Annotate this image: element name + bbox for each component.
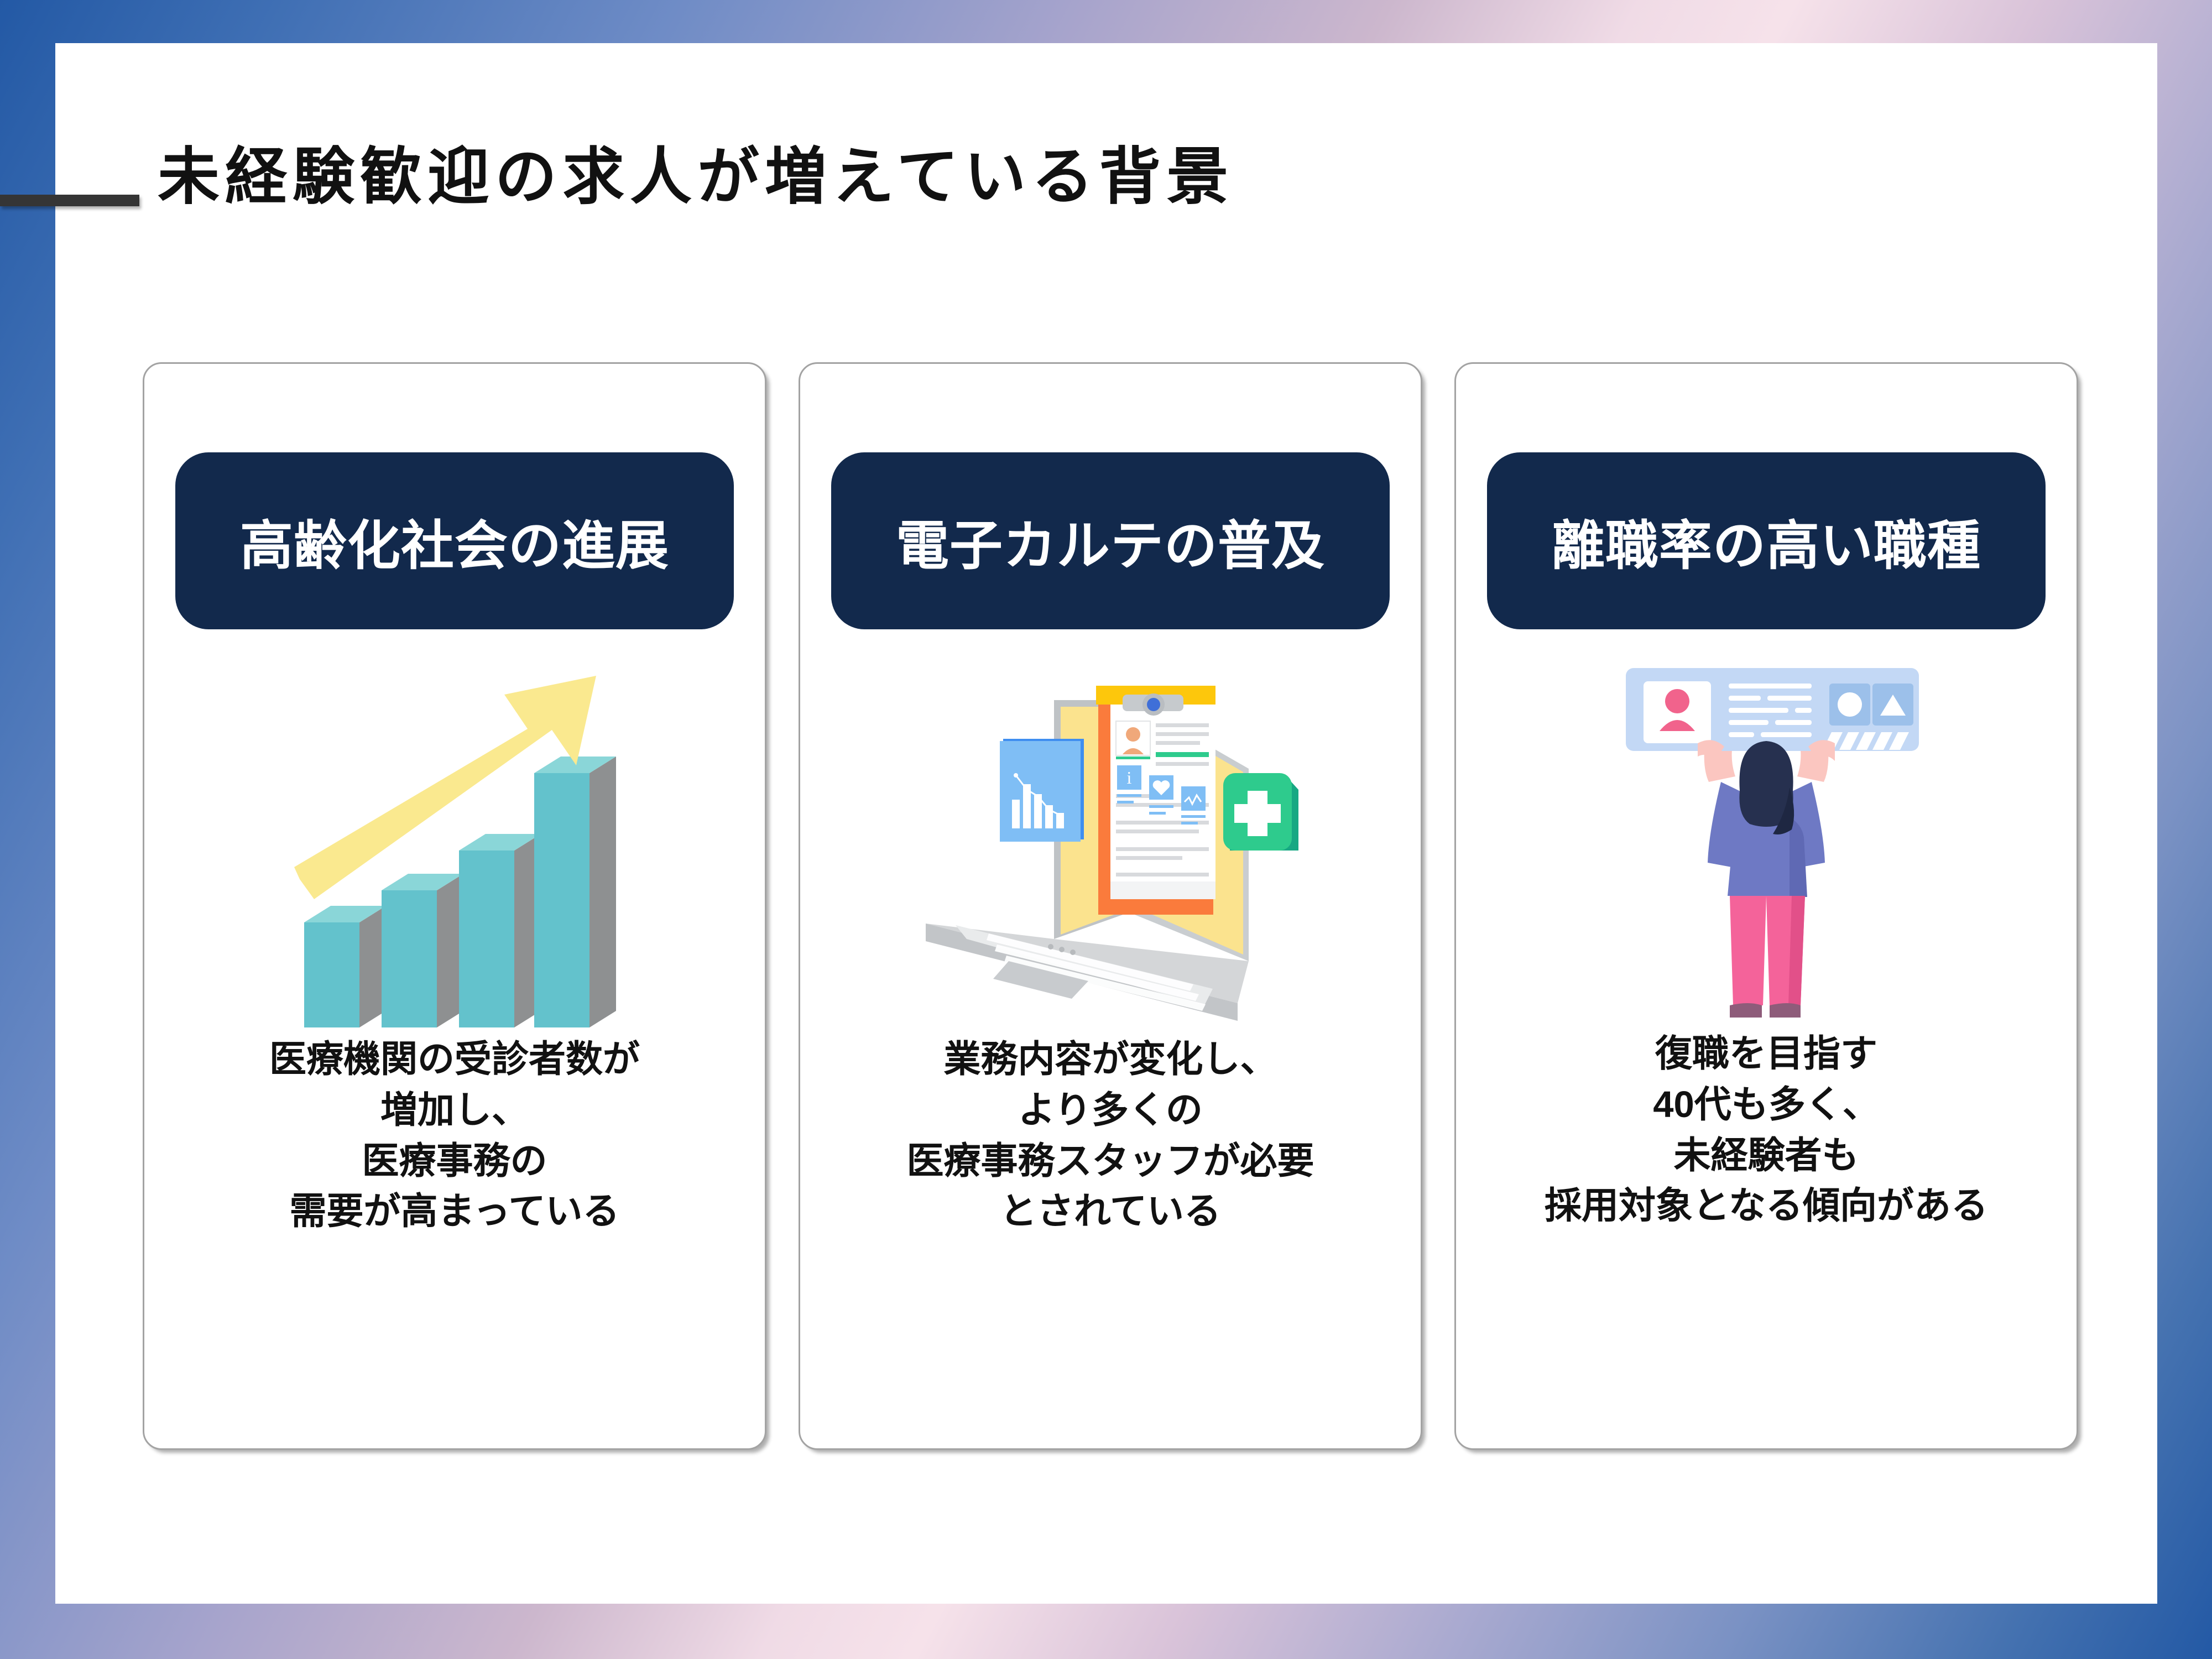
title-accent-rule [0, 195, 139, 206]
card-badge-label-3: 離職率の高い職種 [1552, 503, 1981, 580]
card-body-2-line-2: より多くの [817, 1085, 1404, 1136]
card-body-2-line-3: 医療事務スタッフが必要 [817, 1136, 1404, 1187]
card-body-2: 業務内容が変化し、 より多くの 医療事務スタッフが必要 とされている [817, 1034, 1404, 1237]
card-badge-label-1: 高齢化社会の進展 [240, 503, 669, 580]
card-body-3-line-1: 復職を目指す [1473, 1029, 2059, 1079]
laptop-medical-record-icon: i [906, 651, 1315, 1039]
card-body-1-line-2: 増加し、 [161, 1085, 748, 1136]
card-badge-1: 高齢化社会の進展 [175, 452, 734, 629]
card-high-turnover-job[interactable]: 離職率の高い職種 [1454, 362, 2078, 1450]
growth-bar-chart-arrow-icon [278, 662, 632, 1027]
card-body-1-line-4: 需要が高まっている [161, 1186, 748, 1237]
card-body-3: 復職を目指す 40代も多く、 未経験者も 採用対象となる傾向がある [1473, 1029, 2059, 1232]
card-aging-society[interactable]: 高齢化社会の進展 [143, 362, 766, 1450]
illustration-slot-2: i [831, 651, 1390, 1039]
slide-root: 未経験歓迎の求人が増えている背景 高齢化社会の進展 [0, 0, 2212, 1659]
card-body-3-line-4: 採用対象となる傾向がある [1473, 1181, 2059, 1232]
illustration-slot-3 [1487, 651, 2046, 1039]
page-title: 未経験歓迎の求人が増えている背景 [158, 138, 1706, 216]
card-body-2-line-1: 業務内容が変化し、 [817, 1034, 1404, 1085]
card-body-3-line-3: 未経験者も [1473, 1130, 2059, 1181]
card-badge-2: 電子カルテの普及 [831, 452, 1390, 629]
cards-row: 高齢化社会の進展 [143, 362, 2078, 1452]
card-badge-label-2: 電子カルテの普及 [896, 503, 1325, 580]
card-body-1-line-1: 医療機関の受診者数が [161, 1034, 748, 1085]
svg-text:i: i [1127, 768, 1132, 787]
card-electronic-medical-record[interactable]: 電子カルテの普及 [799, 362, 1422, 1450]
card-body-1-line-3: 医療事務の [161, 1136, 748, 1187]
card-body-1: 医療機関の受診者数が 増加し、 医療事務の 需要が高まっている [161, 1034, 748, 1237]
card-body-2-line-4: とされている [817, 1186, 1404, 1237]
card-badge-3: 離職率の高い職種 [1487, 452, 2046, 629]
woman-holding-profile-panel-icon [1595, 651, 1938, 1039]
illustration-slot-1 [175, 651, 734, 1039]
card-body-3-line-2: 40代も多く、 [1473, 1079, 2059, 1130]
